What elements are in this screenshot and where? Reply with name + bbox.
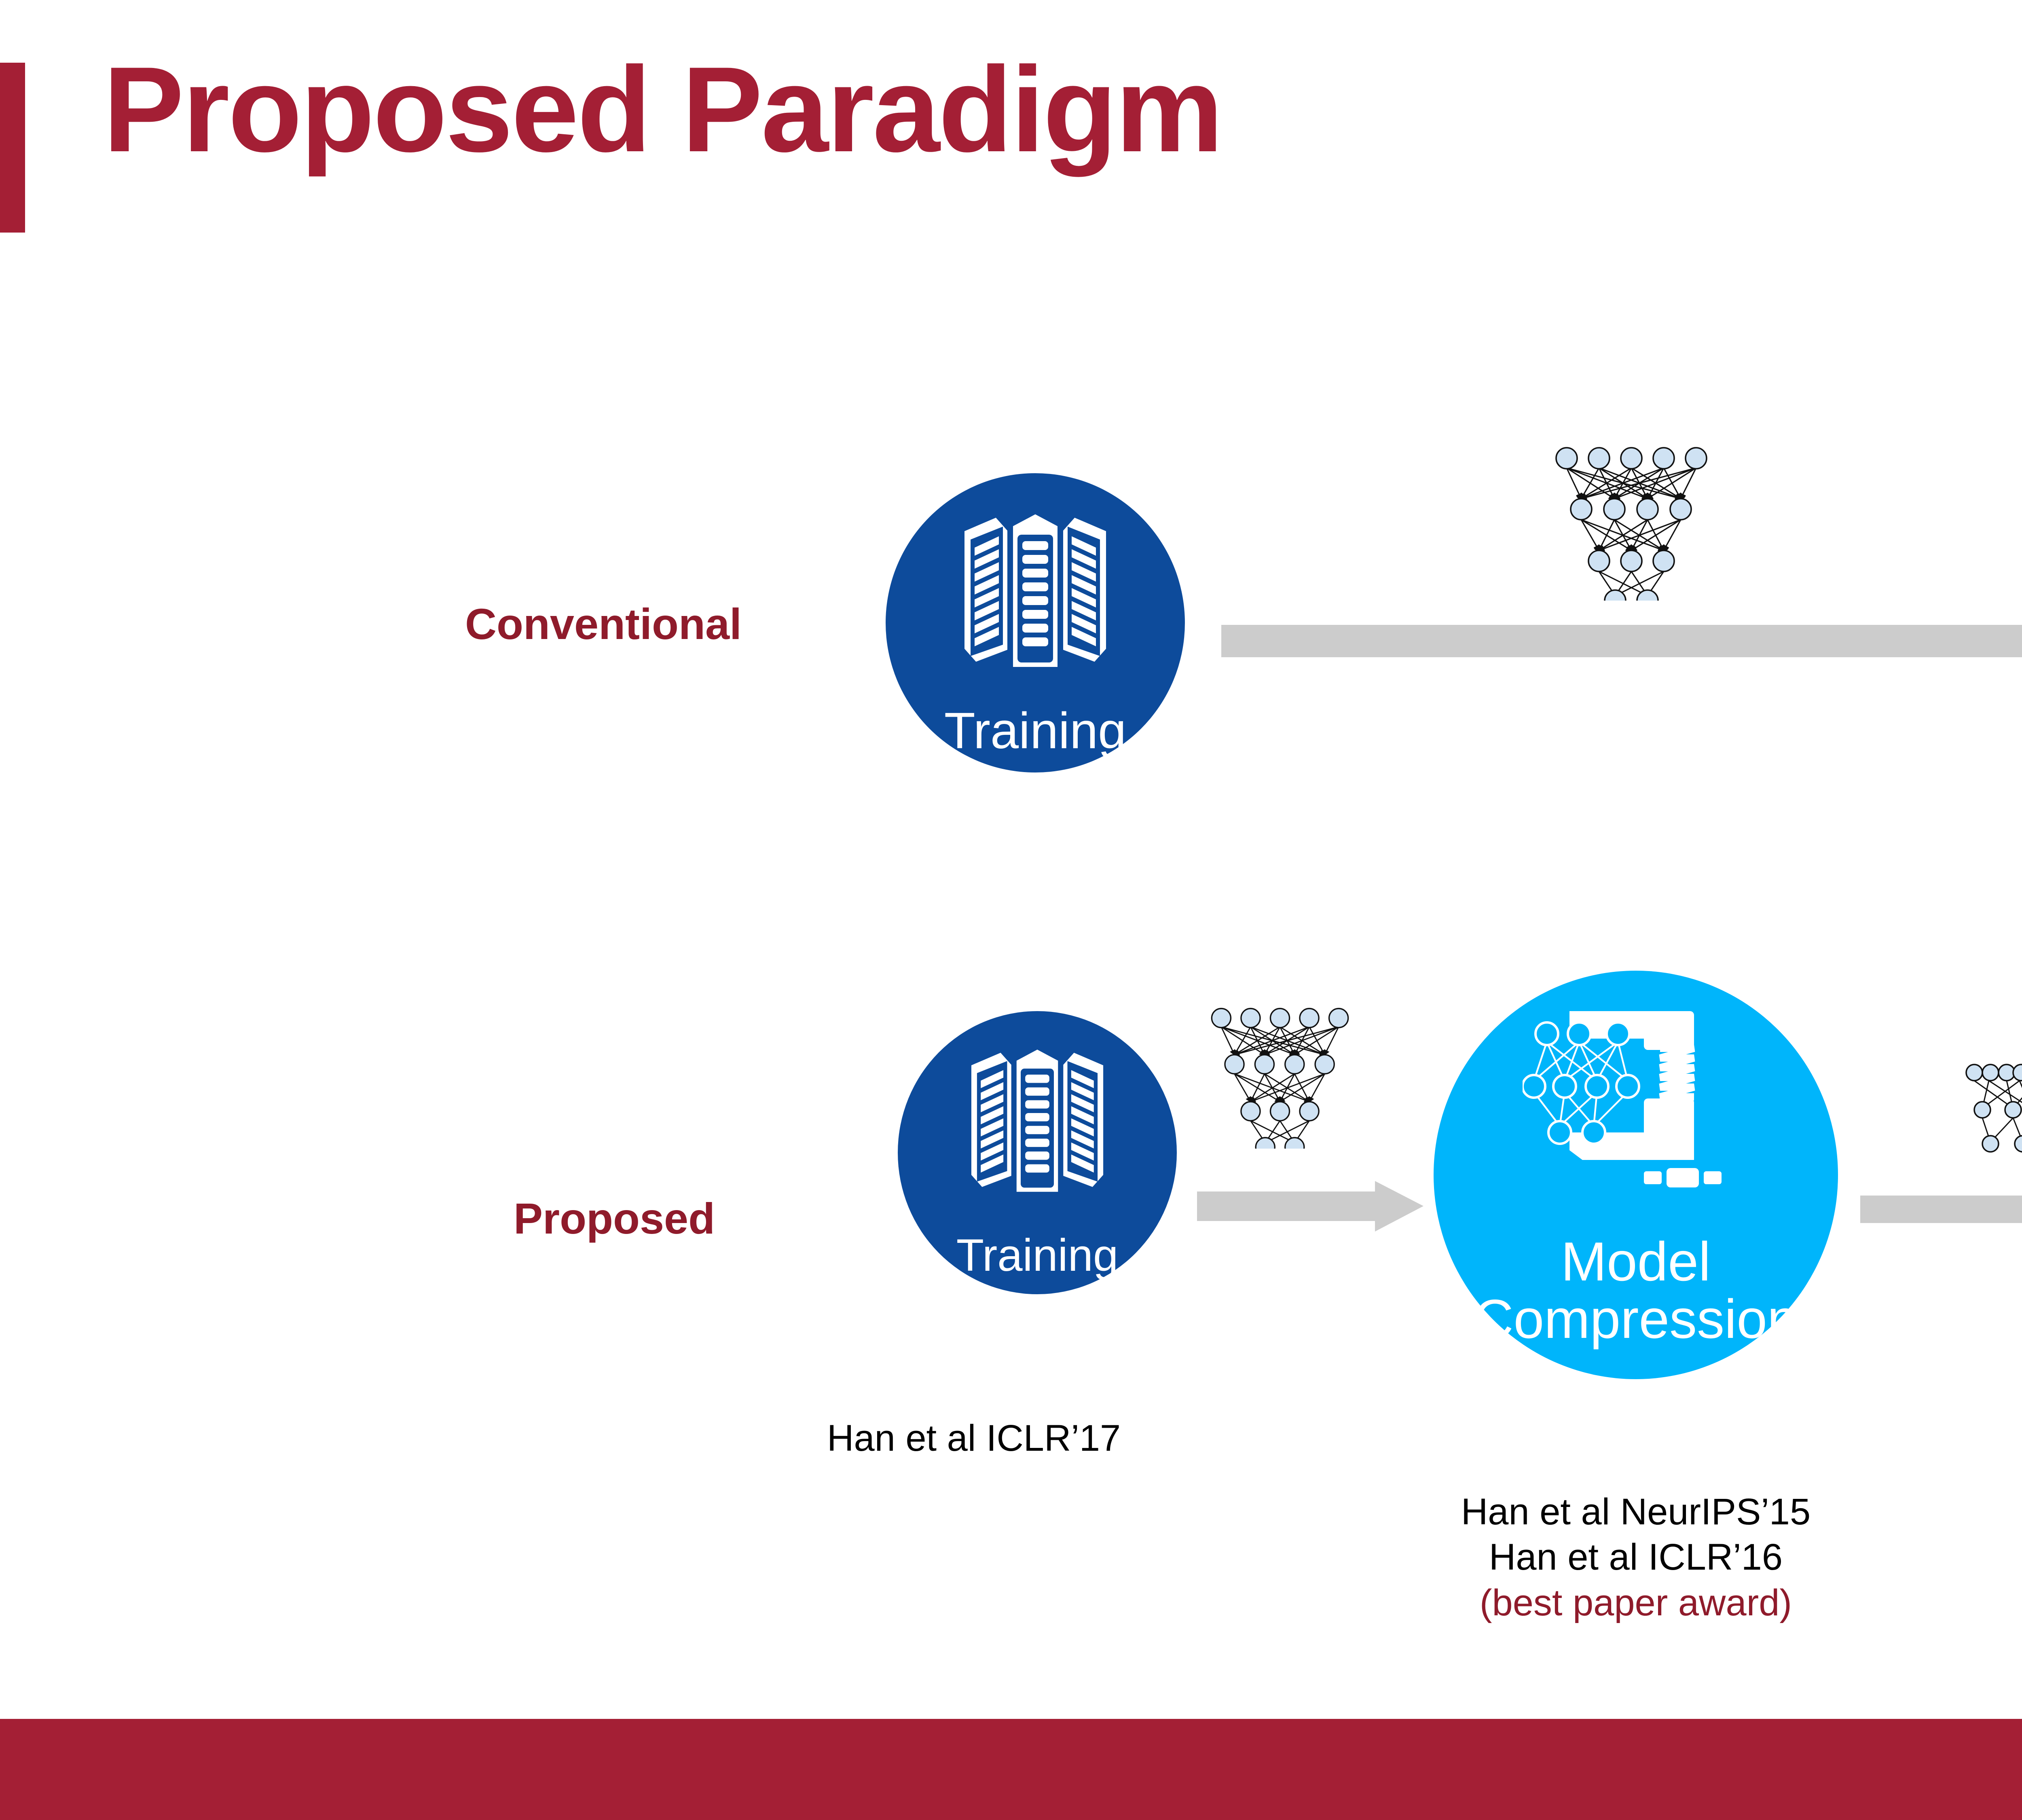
- node-label-training: Training: [956, 1232, 1118, 1294]
- flow-arrow-training-to-compression: [1197, 1181, 1423, 1234]
- flow-arrow-conventional: [1221, 613, 2022, 671]
- server-rack-icon: [954, 1033, 1120, 1217]
- neural-net-dense-proposed: [1205, 999, 1363, 1151]
- footer-course-title: : TinyML and Efficient Deep Learning Com…: [283, 889, 1081, 931]
- title-accent-bar: [0, 63, 25, 233]
- row-label-proposed: Proposed: [514, 1193, 715, 1244]
- footer-course-code: MIT 6.5940: [95, 889, 283, 931]
- neural-net-dense-conventional: [1549, 439, 1723, 603]
- node-label-model-compression: Model Compression: [1474, 1233, 1798, 1379]
- node-training-conventional[interactable]: Training: [886, 473, 1185, 772]
- caption-compression-papers: Han et al NeurIPS’15 Han et al ICLR’16: [1461, 1491, 1810, 1578]
- caption-training-citation: Han et al ICLR’17: [827, 1416, 1121, 1461]
- footer-course-label: MIT 6.5940: TinyML and Efficient Deep Le…: [95, 889, 1081, 931]
- caption-compression-citation: Han et al NeurIPS’15 Han et al ICLR’16 (…: [1391, 1444, 1880, 1671]
- neural-net-pruned: [1961, 1027, 2022, 1159]
- footer-bar: [0, 1719, 2022, 1820]
- neural-net-clamp-icon: [1523, 1003, 1749, 1199]
- node-model-compression[interactable]: Model Compression: [1434, 971, 1838, 1379]
- node-training-proposed[interactable]: Training: [898, 1011, 1177, 1294]
- server-rack-icon: [946, 497, 1124, 694]
- flow-arrow-compression-to-inference: [1860, 1185, 2022, 1236]
- node-label-training: Training: [944, 704, 1127, 772]
- page-title: Proposed Paradigm: [103, 49, 1222, 170]
- row-label-conventional: Conventional: [465, 599, 742, 649]
- caption-compression-award: (best paper award): [1391, 1580, 1880, 1625]
